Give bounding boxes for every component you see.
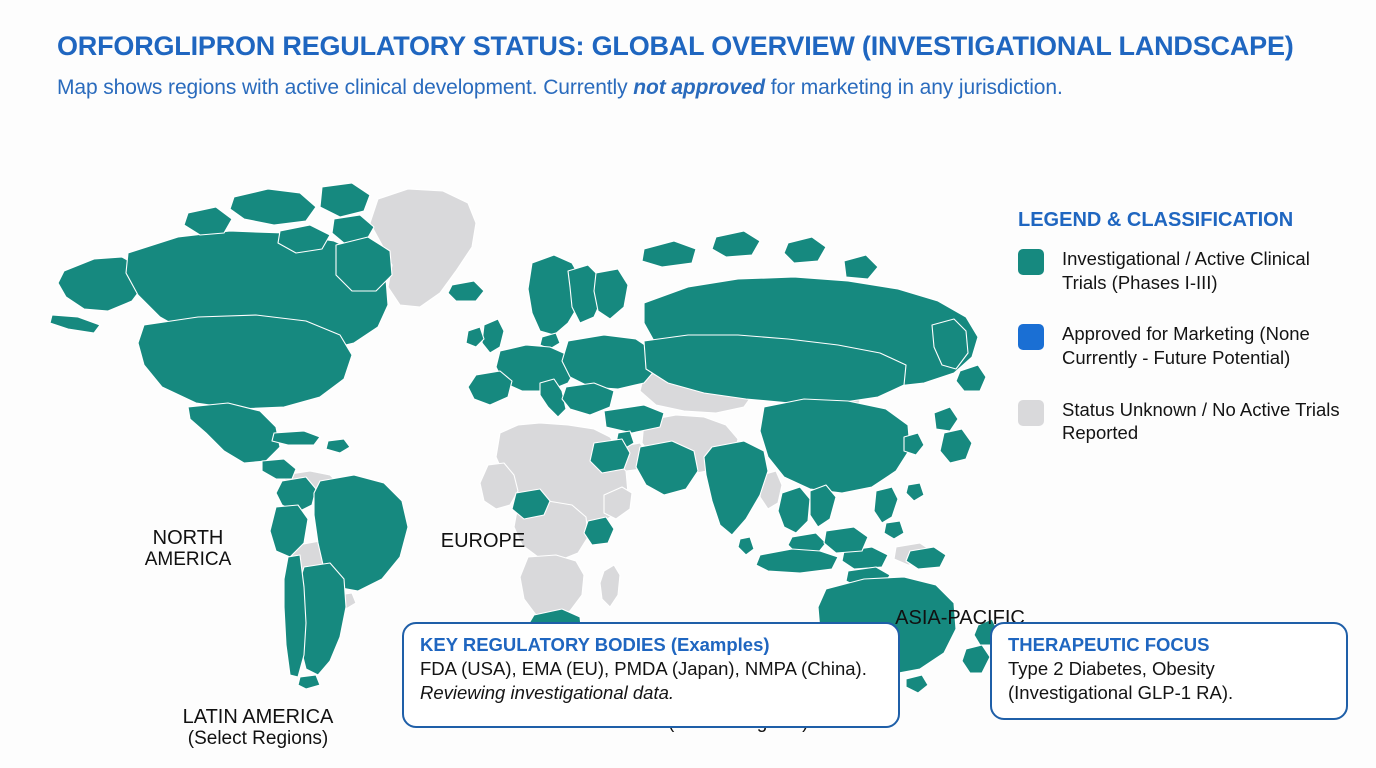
page-subtitle: Map shows regions with active clinical d… xyxy=(57,74,1307,101)
map-label-latin-america-line2: (Select Regions) xyxy=(158,728,358,749)
map-label-north-america-line2: AMERICA xyxy=(108,549,268,570)
page-title: ORFORGLIPRON REGULATORY STATUS: GLOBAL O… xyxy=(57,30,1307,64)
map-label-north-america: NORTH AMERICA xyxy=(108,527,268,571)
legend-label-unknown: Status Unknown / No Active Trials Report… xyxy=(1062,398,1348,445)
legend-item-investigational[interactable]: Investigational / Active Clinical Trials… xyxy=(1018,247,1348,294)
legend-swatch-unknown-icon xyxy=(1018,400,1044,426)
world-map-graphic xyxy=(48,175,1008,695)
header: ORFORGLIPRON REGULATORY STATUS: GLOBAL O… xyxy=(57,30,1307,101)
legend-title: LEGEND & CLASSIFICATION xyxy=(1018,208,1348,233)
subtitle-emphasis: not approved xyxy=(633,76,765,99)
subtitle-text-before: Map shows regions with active clinical d… xyxy=(57,76,633,99)
map-label-latin-america: LATIN AMERICA (Select Regions) xyxy=(158,706,358,750)
callout-body-regulatory-italic: Reviewing investigational data. xyxy=(420,682,674,703)
map-label-latin-america-line1: LATIN AMERICA xyxy=(183,706,334,728)
legend-label-investigational: Investigational / Active Clinical Trials… xyxy=(1062,247,1348,294)
callout-title-regulatory: KEY REGULATORY BODIES (Examples) xyxy=(420,633,882,656)
legend-item-approved[interactable]: Approved for Marketing (None Currently -… xyxy=(1018,322,1348,369)
callout-title-regulatory-paren: (Examples) xyxy=(671,634,770,655)
callout-body-therapeutic: Type 2 Diabetes, Obesity (Investigationa… xyxy=(1008,657,1330,704)
callout-body-regulatory: FDA (USA), EMA (EU), PMDA (Japan), NMPA … xyxy=(420,657,882,704)
callout-title-therapeutic: THERAPEUTIC FOCUS xyxy=(1008,633,1330,656)
map-label-north-america-line1: NORTH xyxy=(153,527,224,549)
map-label-europe-line1: EUROPE xyxy=(441,530,525,552)
subtitle-text-after: for marketing in any jurisdiction. xyxy=(765,76,1063,99)
legend-panel: LEGEND & CLASSIFICATION Investigational … xyxy=(1018,208,1348,473)
legend-label-approved: Approved for Marketing (None Currently -… xyxy=(1062,322,1348,369)
world-map-container: NORTH AMERICA EUROPE ASIA-PACIFIC LATIN … xyxy=(48,175,1008,695)
callout-key-regulatory-bodies: KEY REGULATORY BODIES (Examples) FDA (US… xyxy=(402,622,900,728)
legend-swatch-approved-icon xyxy=(1018,324,1044,350)
callout-therapeutic-focus: THERAPEUTIC FOCUS Type 2 Diabetes, Obesi… xyxy=(990,622,1348,720)
legend-swatch-investigational-icon xyxy=(1018,249,1044,275)
callout-body-regulatory-text: FDA (USA), EMA (EU), PMDA (Japan), NMPA … xyxy=(420,658,867,679)
callout-title-regulatory-main: KEY REGULATORY BODIES xyxy=(420,634,671,655)
map-label-europe: EUROPE xyxy=(423,530,543,552)
legend-item-unknown[interactable]: Status Unknown / No Active Trials Report… xyxy=(1018,398,1348,445)
